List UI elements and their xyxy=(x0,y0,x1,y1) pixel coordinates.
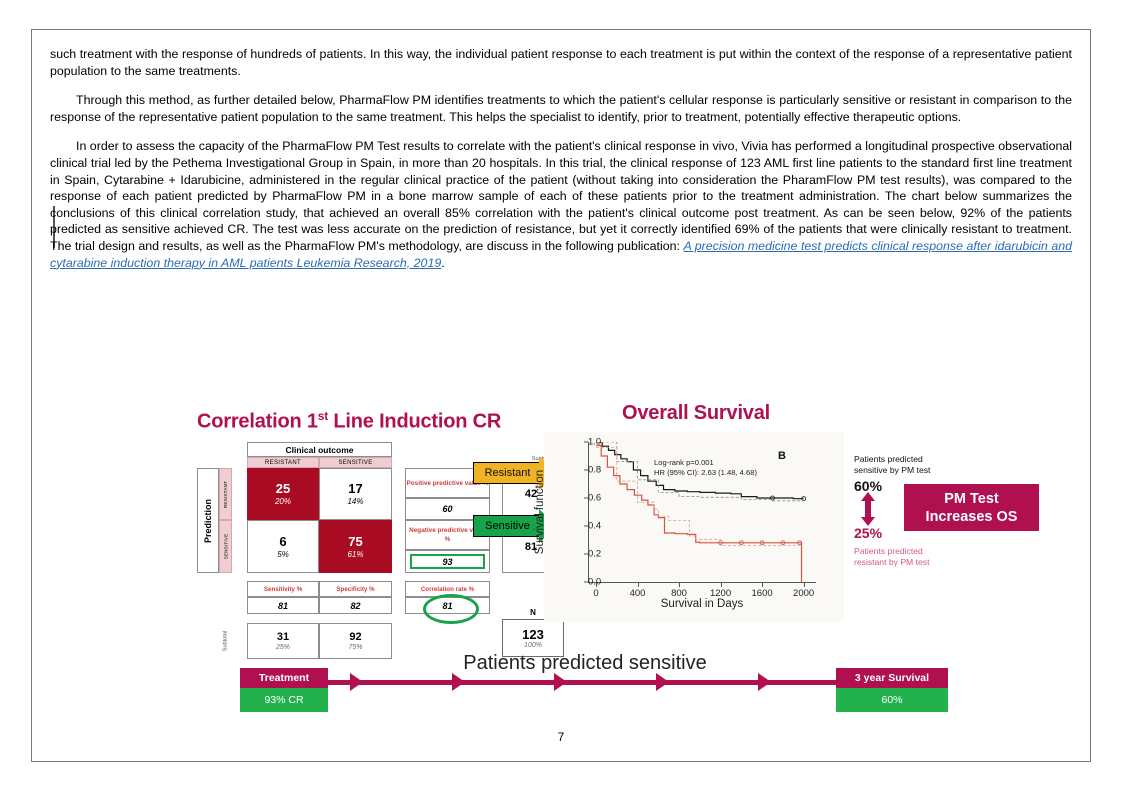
x-tick-mark xyxy=(804,583,805,587)
matrix-cell-false-sensitive: 6 5% xyxy=(247,520,319,573)
log-rank-stat: Log-rank p=0.001 xyxy=(654,458,757,468)
row-header-sensitive-text: SENSITIVE xyxy=(223,534,228,560)
correlation-rate-highlight-ellipse xyxy=(423,594,479,624)
timeline-caption: Patients predicted sensitive xyxy=(350,652,820,675)
document-page: such treatment with the response of hund… xyxy=(31,29,1091,762)
hazard-ratio-stat: HR (95% CI): 2.63 (1.48, 4.68) xyxy=(654,468,757,478)
y-tick-mark xyxy=(584,470,588,471)
results-figure: Correlation 1st Line Induction CR Overal… xyxy=(32,370,1090,740)
correlation-title-rest: Line Induction CR xyxy=(328,411,501,433)
prediction-axis-text: Prediction xyxy=(203,498,213,542)
survival-chart-y-axis xyxy=(588,442,589,582)
survival-chart-stats: Log-rank p=0.001 HR (95% CI): 2.63 (1.48… xyxy=(654,458,757,478)
total-n-value: 123 xyxy=(522,627,544,642)
subtotal-value: 92 xyxy=(349,631,361,644)
note-resistant: Patients predictedresistant by PM test xyxy=(854,546,929,567)
specificity-value: 82 xyxy=(319,597,392,614)
row-header-resistant: RESISTANT xyxy=(219,468,232,520)
matrix-cell-percent: 20% xyxy=(275,496,291,507)
paragraph-3-text: In order to assess the capacity of the P… xyxy=(50,139,1072,253)
y-tick-mark xyxy=(584,582,588,583)
subtotal-row-label: Subtotal xyxy=(219,623,232,659)
pm-test-badge: PM Test Increases OS xyxy=(904,484,1039,531)
matrix-cell-percent: 5% xyxy=(277,549,289,560)
row-header-sensitive: SENSITIVE xyxy=(219,520,232,573)
sensitivity-header: Sensitivity % xyxy=(247,581,319,597)
matrix-cell-percent: 14% xyxy=(347,496,363,507)
timeline-survival-box: 3 year Survival 60% xyxy=(836,668,948,712)
matrix-cell-percent: 61% xyxy=(347,549,363,560)
note-sensitive: Patients predictedsensitive by PM test xyxy=(854,454,930,475)
matrix-cell-value: 75 xyxy=(348,534,362,549)
prediction-axis-label: Prediction xyxy=(197,468,219,573)
correlation-title-main: Correlation 1 xyxy=(197,411,318,433)
subtotal-percent: 75% xyxy=(348,644,362,651)
paragraph-1: such treatment with the response of hund… xyxy=(50,46,1072,79)
clinical-outcome-header: Clinical outcome xyxy=(247,442,392,457)
y-tick-mark xyxy=(584,554,588,555)
timeline-treatment-value: 93% CR xyxy=(240,688,328,712)
matrix-cell-value: 17 xyxy=(348,481,362,496)
correlation-title-sup: st xyxy=(318,409,328,423)
x-tick-mark xyxy=(596,583,597,587)
timeline-chevron-icon xyxy=(452,673,465,691)
x-tick-mark xyxy=(638,583,639,587)
matrix-cell-true-resistant: 25 20% xyxy=(247,468,319,520)
timeline-chevron-icon xyxy=(758,673,771,691)
survival-chart: Survival function 0.00.20.40.60.81.0 040… xyxy=(544,432,844,622)
double-arrow-icon xyxy=(860,492,876,526)
arrow-resistant-label: Resistant xyxy=(473,462,539,484)
survival-chart-ylabel: Survival function xyxy=(534,470,546,554)
correlation-chart-title: Correlation 1st Line Induction CR xyxy=(197,409,501,434)
timeline-survival-value: 60% xyxy=(836,688,948,712)
timeline-treatment-label: Treatment xyxy=(240,668,328,688)
timeline-chevron-icon xyxy=(656,673,669,691)
survival-chart-xlabel: Survival in Days xyxy=(588,598,816,610)
pm-badge-line-2: Increases OS xyxy=(926,508,1018,526)
matrix-cell-false-resistant: 17 14% xyxy=(319,468,392,520)
subtotal-value: 31 xyxy=(277,631,289,644)
paragraph-2: Through this method, as further detailed… xyxy=(50,92,1072,125)
timeline-chevron-icon xyxy=(554,673,567,691)
y-tick-mark xyxy=(584,526,588,527)
timeline-treatment-box: Treatment 93% CR xyxy=(240,668,328,712)
sensitive-patients-timeline: Patients predicted sensitive Treatment 9… xyxy=(240,658,940,714)
document-body: such treatment with the response of hund… xyxy=(50,46,1072,284)
row-header-resistant-text: RESISTANT xyxy=(223,480,228,507)
matrix-cell-value: 25 xyxy=(276,481,290,496)
paragraph-3-end: . xyxy=(441,256,444,270)
timeline-survival-label: 3 year Survival xyxy=(836,668,948,688)
matrix-cell-true-sensitive: 75 61% xyxy=(319,520,392,573)
page-number: 7 xyxy=(32,730,1090,744)
x-tick-mark xyxy=(679,583,680,587)
npv-value: 93 xyxy=(405,550,490,573)
total-n-percent: 100% xyxy=(524,642,542,649)
sensitivity-value: 81 xyxy=(247,597,319,614)
x-tick-mark xyxy=(721,583,722,587)
y-tick-mark xyxy=(584,442,588,443)
specificity-header: Specificity % xyxy=(319,581,392,597)
matrix-cell-value: 6 xyxy=(279,534,286,549)
y-tick-mark xyxy=(584,498,588,499)
timeline-chevron-icon xyxy=(350,673,363,691)
paragraph-3: In order to assess the capacity of the P… xyxy=(50,138,1072,271)
subtotal-resistant: 31 25% xyxy=(247,623,319,659)
subtotal-row-label-text: Subtotal xyxy=(223,631,229,652)
arrow-sensitive-label: Sensitive xyxy=(473,515,539,537)
subtotal-percent: 25% xyxy=(276,644,290,651)
x-tick-mark xyxy=(762,583,763,587)
survival-chart-x-axis xyxy=(588,582,816,583)
column-header-sensitive: SENSITIVE xyxy=(319,457,392,468)
overall-survival-title: Overall Survival xyxy=(622,402,770,425)
pm-badge-line-1: PM Test xyxy=(944,490,999,508)
percent-resistant-survival: 25% xyxy=(854,525,882,541)
column-header-resistant: RESISTANT xyxy=(247,457,319,468)
survival-chart-panel-letter: B xyxy=(778,450,786,462)
